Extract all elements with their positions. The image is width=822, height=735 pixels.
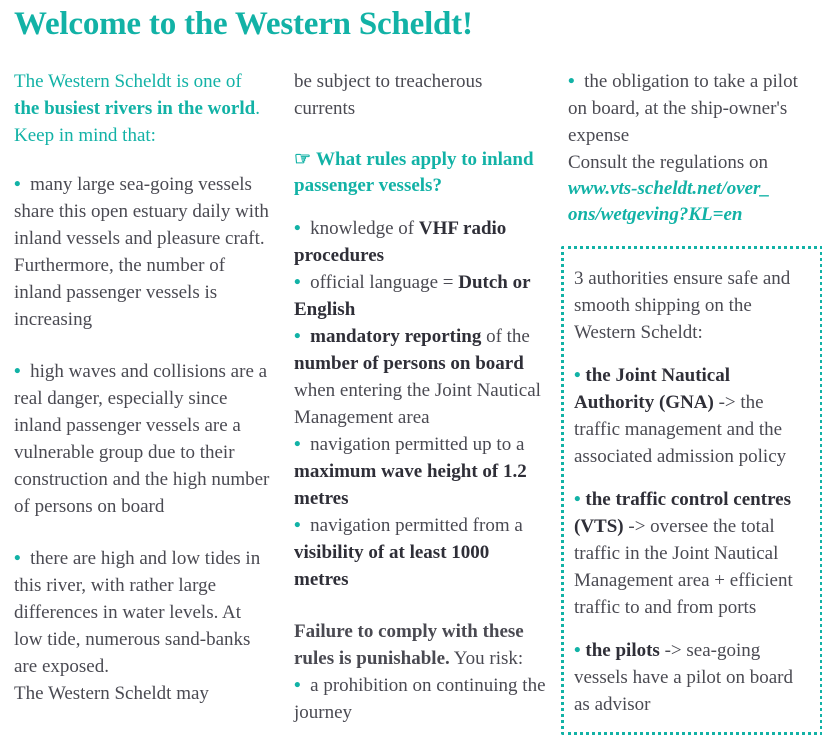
intro-bold: the busiest rivers in the world — [14, 98, 255, 119]
spacer — [294, 199, 548, 215]
spacer — [14, 333, 270, 358]
spacer — [574, 346, 812, 362]
list-item: • navigation permitted up to a maximum w… — [294, 431, 548, 512]
regulations-link-line-1: www.vts-scheldt.net/over_ — [568, 178, 770, 199]
list-item-bold: visibility of at least 1000 metres — [294, 542, 489, 590]
list-item-post: when entering the Joint Nautical Managem… — [294, 380, 541, 428]
bullet-dot-icon: • — [574, 489, 581, 510]
intro-lead: The Western Scheldt is one of — [14, 71, 242, 92]
list-item-bold-2: number of persons on board — [294, 353, 524, 374]
list-item-pre: navigation permitted up to a — [310, 434, 524, 455]
column-2-continuation: be subject to treacherous currents — [294, 68, 548, 122]
list-item-mid: of the — [481, 326, 530, 347]
consult-text: Consult the regulations on — [568, 149, 816, 176]
authority-item: • the Joint Nautical Authority (GNA) -> … — [574, 362, 812, 470]
warning-tail: You risk: — [450, 648, 523, 669]
section-heading-rules: ☞What rules apply to inland passenger ve… — [294, 147, 548, 199]
list-item: • mandatory reporting of the number of p… — [294, 323, 548, 431]
authority-item: • the pilots -> sea-going vessels have a… — [574, 637, 812, 718]
bullet-dot-icon: • — [294, 515, 301, 536]
spacer — [294, 593, 548, 618]
bullet-dot-icon: • — [574, 365, 581, 386]
authorities-box-intro: 3 authorities ensure safe and smooth shi… — [574, 265, 812, 346]
list-item-bold: maximum wave height of 1.2 metres — [294, 461, 527, 509]
list-item: • official language = Dutch or English — [294, 269, 548, 323]
column-1-continuation: The Western Scheldt may — [14, 680, 270, 707]
authorities-box: 3 authorities ensure safe and smooth shi… — [561, 246, 822, 735]
page-title: Welcome to the Western Scheldt! — [14, 6, 473, 43]
authority-name: the pilots — [585, 640, 659, 661]
list-item-text: high waves and collisions are a real dan… — [14, 361, 269, 517]
bullet-dot-icon: • — [294, 434, 301, 455]
bullet-dot-icon: • — [14, 548, 21, 569]
list-item: • many large sea-going vessels share thi… — [14, 171, 270, 333]
section-heading-text: What rules apply to inland passenger ves… — [294, 149, 534, 196]
bullet-dot-icon: • — [294, 675, 301, 696]
bullet-dot-icon: • — [294, 218, 301, 239]
spacer — [574, 470, 812, 486]
authority-arrow: -> — [660, 640, 687, 661]
bullet-dot-icon: • — [294, 326, 301, 347]
spacer — [574, 621, 812, 637]
list-item: • a prohibition on continuing the journe… — [294, 672, 548, 726]
authority-arrow: -> — [714, 392, 741, 413]
column-2: be subject to treacherous currents ☞What… — [284, 68, 556, 726]
list-item-pre: navigation permitted from a — [310, 515, 523, 536]
spacer — [14, 520, 270, 545]
list-item: • there are high and low tides in this r… — [14, 545, 270, 680]
column-1: The Western Scheldt is one of the busies… — [0, 68, 284, 707]
intro-paragraph: The Western Scheldt is one of the busies… — [14, 68, 270, 149]
authority-arrow: -> — [624, 516, 651, 537]
regulations-link-line-2: ons/wetgeving?KL=en — [568, 204, 742, 225]
pointing-hand-icon: ☞ — [294, 150, 311, 169]
bullet-dot-icon: • — [294, 272, 301, 293]
list-item-text: the obligation to take a pilot on board,… — [568, 71, 798, 146]
list-item-text: a prohibition on continuing the journey — [294, 675, 546, 723]
list-item-pre: knowledge of — [310, 218, 419, 239]
warning-text: Failure to comply with these rules is pu… — [294, 618, 548, 672]
spacer — [294, 122, 548, 147]
three-column-layout: The Western Scheldt is one of the busies… — [0, 68, 822, 719]
list-item-pre: official language = — [310, 272, 458, 293]
list-item-text: many large sea-going vessels share this … — [14, 174, 269, 330]
bullet-dot-icon: • — [14, 174, 21, 195]
authority-name: the Joint Nautical Authority (GNA) — [574, 365, 730, 413]
regulations-link[interactable]: www.vts-scheldt.net/over_ons/wetgeving?K… — [568, 176, 816, 228]
bullet-dot-icon: • — [574, 640, 581, 661]
list-item: • navigation permitted from a visibility… — [294, 512, 548, 593]
list-item: • the obligation to take a pilot on boar… — [568, 68, 816, 149]
list-item: • knowledge of VHF radio procedures — [294, 215, 548, 269]
list-item: • high waves and collisions are a real d… — [14, 358, 270, 520]
list-item-text: there are high and low tides in this riv… — [14, 548, 260, 677]
bullet-dot-icon: • — [14, 361, 21, 382]
list-item-bold: mandatory reporting — [310, 326, 481, 347]
column-3: • the obligation to take a pilot on boar… — [556, 68, 822, 735]
bullet-dot-icon: • — [568, 71, 575, 92]
authority-item: • the traffic control centres (VTS) -> o… — [574, 486, 812, 621]
